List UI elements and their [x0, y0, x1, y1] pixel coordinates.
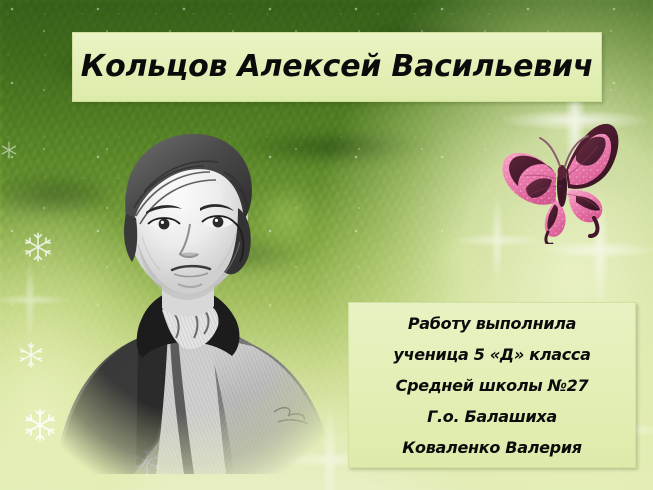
- slide-title-box: Кольцов Алексей Васильевич: [72, 32, 602, 102]
- slide-title: Кольцов Алексей Васильевич: [81, 52, 593, 82]
- snowflake-icon: [0, 140, 19, 160]
- author-line-1: Работу выполнила: [408, 308, 576, 339]
- presentation-slide: Кольцов Алексей Васильевич Работу выполн…: [0, 0, 653, 490]
- author-line-3: Средней школы №27: [396, 370, 589, 401]
- author-line-2: ученица 5 «Д» класса: [393, 339, 590, 370]
- butterfly-icon: [498, 112, 624, 244]
- portrait-image: [38, 112, 338, 474]
- author-credit-box: Работу выполнила ученица 5 «Д» класса Ср…: [348, 302, 636, 468]
- author-line-4: Г.о. Балашиха: [427, 401, 557, 432]
- author-line-5: Коваленко Валерия: [402, 432, 581, 463]
